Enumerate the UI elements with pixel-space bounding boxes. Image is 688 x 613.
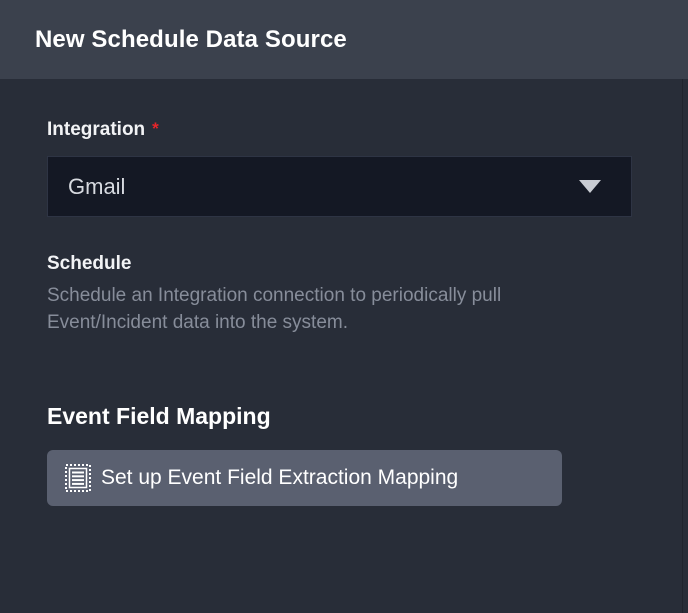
ledger-list-icon xyxy=(65,464,91,492)
setup-event-field-mapping-button[interactable]: Set up Event Field Extraction Mapping xyxy=(47,450,562,506)
required-asterisk: * xyxy=(152,120,159,137)
schedule-description: Schedule an Integration connection to pe… xyxy=(47,282,592,336)
page-title: New Schedule Data Source xyxy=(35,26,347,54)
integration-selected-value: Gmail xyxy=(68,174,125,200)
integration-select[interactable]: Gmail xyxy=(47,156,632,217)
integration-label: Integration * xyxy=(47,79,688,141)
setup-event-field-mapping-label: Set up Event Field Extraction Mapping xyxy=(101,466,458,490)
integration-label-text: Integration xyxy=(47,119,145,141)
schedule-heading: Schedule xyxy=(47,253,688,275)
panel-right-divider xyxy=(682,79,683,613)
form-body: Integration * Gmail Schedule Schedule an… xyxy=(0,79,688,613)
event-field-mapping-heading: Event Field Mapping xyxy=(47,403,688,430)
dialog-header: New Schedule Data Source xyxy=(0,0,688,79)
chevron-down-icon[interactable] xyxy=(579,180,601,193)
